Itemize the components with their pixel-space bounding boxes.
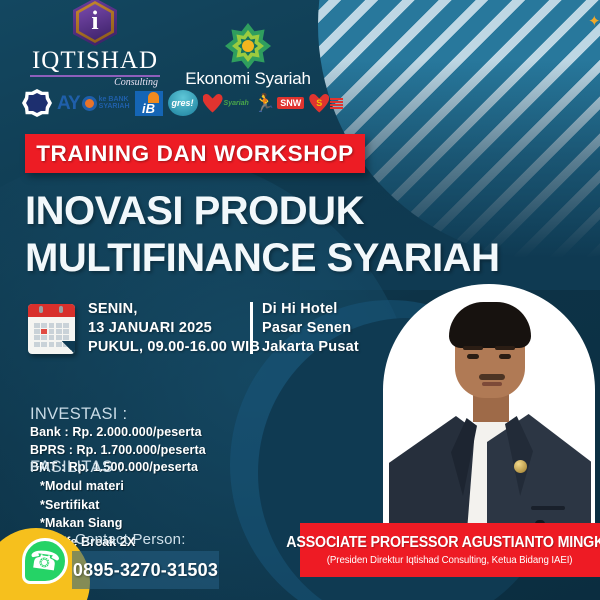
iqtishad-mark-letter: i	[91, 8, 98, 36]
ib-logo: iB	[135, 90, 163, 117]
ayo-subtext: ke BANK SYARIAH	[99, 96, 130, 111]
ekonomi-syariah-logo: Ekonomi Syariah	[178, 23, 318, 88]
schedule-date: 13 JANUARI 2025	[88, 319, 260, 338]
training-banner: TRAINING DAN WORKSHOP	[25, 134, 365, 173]
venue-line-3: Jakarta Pusat	[262, 338, 359, 357]
superhero-logo: S	[309, 90, 343, 117]
contact-phone-box[interactable]: 0895-3270-31503	[72, 551, 219, 589]
venue-accent-bar	[250, 302, 253, 354]
venue-block: Di Hi Hotel Pasar Senen Jakarta Pusat	[250, 300, 359, 357]
ekonomi-syariah-star-icon	[225, 23, 271, 69]
partner-logo-strip: AY ke BANK SYARIAH iB gres! Syariah 🏃 SN…	[22, 88, 322, 118]
heart-syariah-logo: Syariah	[203, 90, 249, 117]
iqtishad-logo: i IQTISHAD Consulting	[26, 0, 164, 88]
iqtishad-wordmark: IQTISHAD	[26, 48, 164, 73]
ekonomi-syariah-wordmark: Ekonomi Syariah	[178, 70, 318, 87]
speaker-portrait	[383, 284, 595, 554]
poster-canvas: ✦ i IQTISHAD Consulting Ekonomi Syariah …	[0, 0, 600, 600]
venue-line-1: Di Hi Hotel	[262, 300, 359, 319]
mui-halal-logo	[22, 90, 52, 117]
page-title: INOVASI PRODUK MULTIFINANCE SYARIAH	[25, 188, 570, 282]
header-logo-row: i IQTISHAD Consulting Ekonomi Syariah	[26, 22, 326, 88]
superhero-lines	[330, 98, 343, 109]
investment-item: BPRS : Rp. 1.700.000/peserta	[30, 442, 270, 460]
runner-icon: 🏃	[254, 95, 276, 111]
investment-heading: INVESTASI :	[30, 405, 270, 424]
facilities-item: *Modul materi	[30, 477, 270, 496]
star-icon: ✦	[588, 16, 600, 28]
facilities-heading: FASILITAS :	[30, 458, 270, 477]
schedule-block: SENIN, 13 JANUARI 2025 PUKUL, 09.00-16.0…	[28, 300, 260, 357]
schedule-time: PUKUL, 09.00-16.00 WIB	[88, 338, 260, 357]
schedule-day: SENIN,	[88, 300, 260, 319]
snw-logo: 🏃 SNW	[254, 90, 304, 117]
ayo-text: AY	[57, 94, 80, 113]
whatsapp-icon[interactable]: ☎	[22, 538, 68, 584]
speaker-role: (Presiden Direktur Iqtishad Consulting, …	[327, 555, 573, 566]
investment-item: Bank : Rp. 2.000.000/peserta	[30, 424, 270, 442]
shield-icon: S	[309, 94, 329, 113]
calendar-icon	[28, 304, 75, 354]
ayo-ke-bank-syariah-logo: AY ke BANK SYARIAH	[57, 90, 130, 117]
title-line-2: MULTIFINANCE SYARIAH	[25, 235, 570, 282]
heart-icon	[203, 94, 223, 113]
ayo-o-icon	[82, 96, 97, 111]
schedule-text: SENIN, 13 JANUARI 2025 PUKUL, 09.00-16.0…	[88, 300, 260, 357]
speaker-name-banner: ASSOCIATE PROFESSOR AGUSTIANTO MINGKA (P…	[300, 523, 600, 577]
iqtishad-tagline: Consulting	[26, 78, 164, 88]
training-banner-label: TRAINING DAN WORKSHOP	[36, 141, 354, 167]
gres-logo: gres!	[168, 90, 198, 117]
speaker-name: ASSOCIATE PROFESSOR AGUSTIANTO MINGKA	[286, 534, 600, 552]
iqtishad-hexagon-icon: i	[73, 0, 117, 46]
facilities-item: *Sertifikat	[30, 496, 270, 515]
venue-line-2: Pasar Senen	[262, 319, 359, 338]
title-line-1: INOVASI PRODUK	[25, 188, 570, 235]
contact-phone-number: 0895-3270-31503	[73, 560, 218, 581]
contact-label: Contact Person:	[75, 531, 186, 548]
